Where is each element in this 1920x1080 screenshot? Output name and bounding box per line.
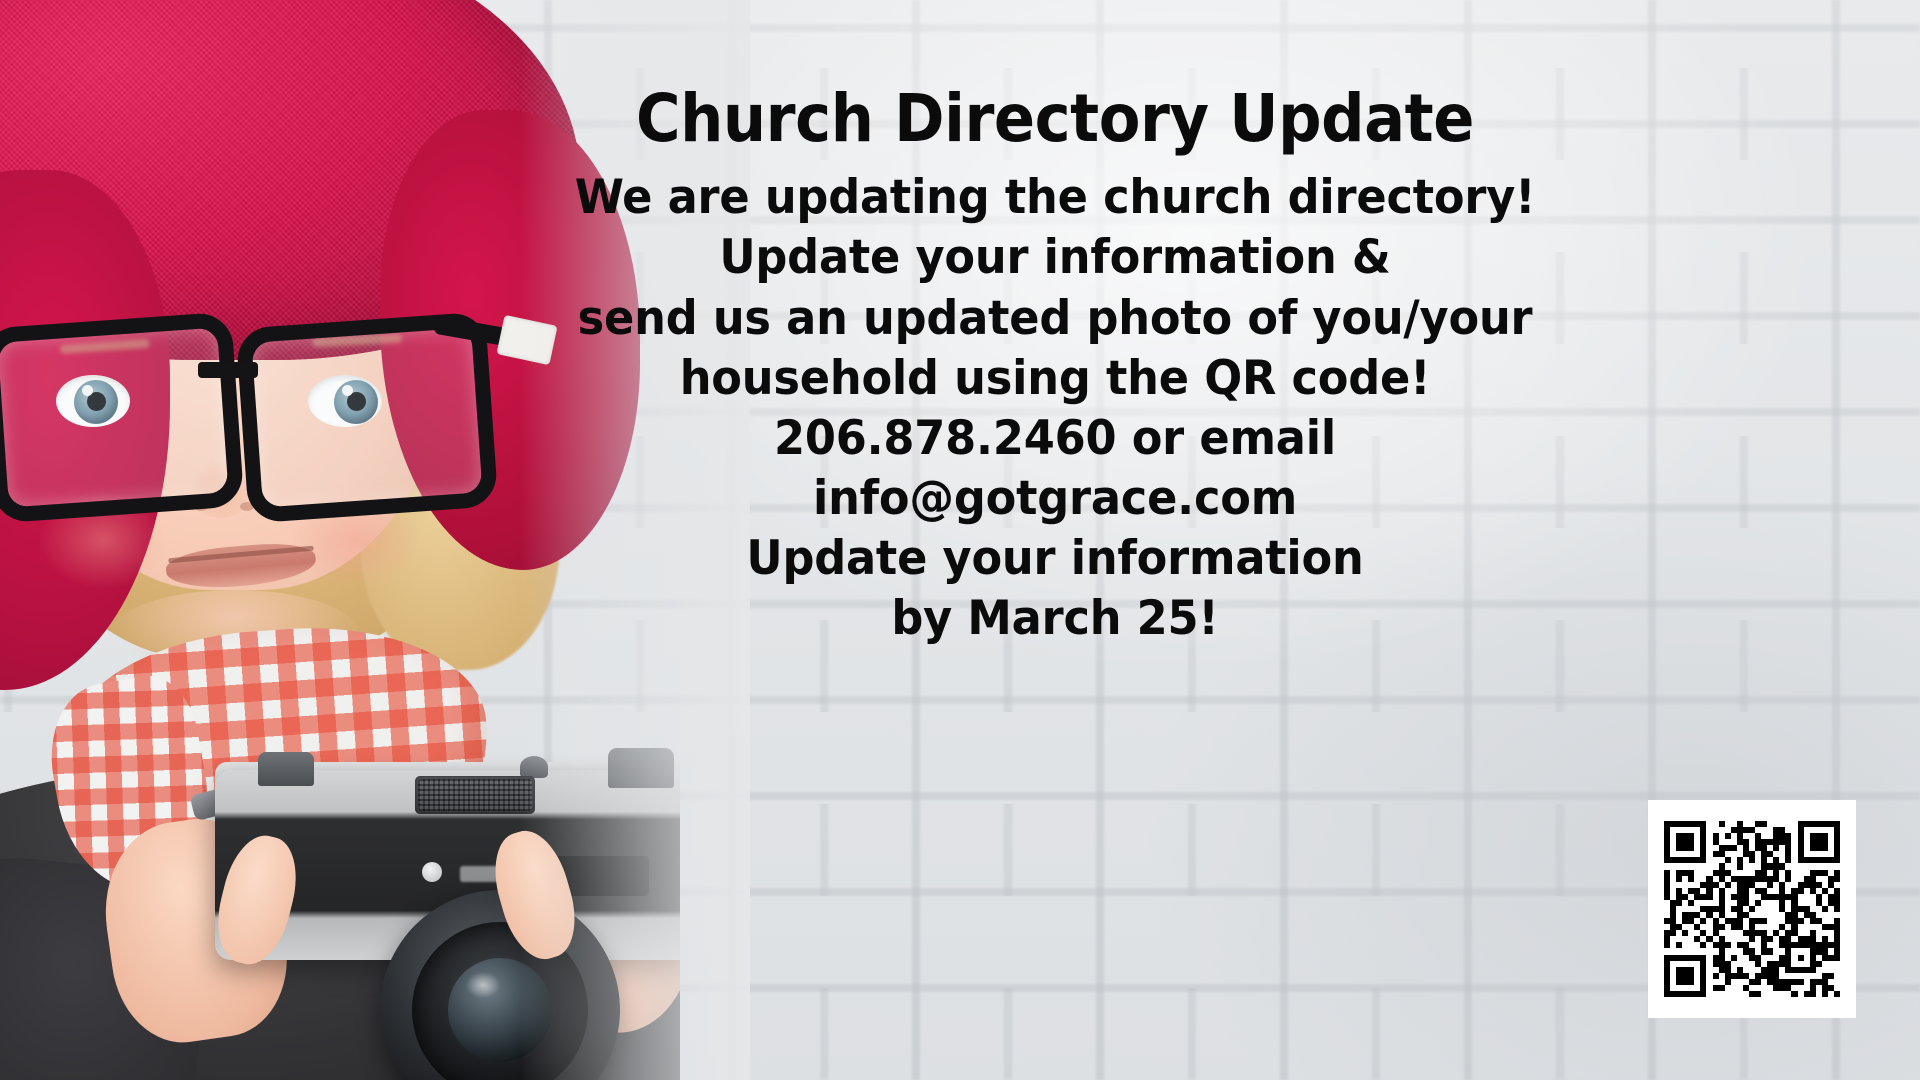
eyeglasses-lens-right <box>236 312 499 524</box>
qr-code-modules <box>1664 821 1840 997</box>
camera-self-timer <box>422 862 442 882</box>
body-line-1: We are updating the church directory! <box>571 168 1540 228</box>
deadline-line: by March 25! <box>571 589 1540 649</box>
qr-code[interactable] <box>1648 800 1856 1018</box>
camera-rewind-dial <box>258 752 314 786</box>
camera-shutter-button <box>520 756 548 778</box>
eyeglasses-bridge <box>198 362 258 378</box>
camera-lens-flare <box>466 972 500 998</box>
eyeglasses-lens-left <box>0 312 244 524</box>
camera-viewfinder-grid <box>418 779 532 811</box>
email-line: info@gotgrace.com <box>571 469 1540 529</box>
flyer-text-block: Church Directory Update We are updating … <box>545 85 1565 650</box>
camera-lens-glass <box>448 958 552 1062</box>
body-line-7: Update your information <box>571 529 1540 589</box>
page-title: Church Directory Update <box>586 85 1524 152</box>
phone-line: 206.878.2460 or email <box>571 409 1540 469</box>
flyer-canvas: Church Directory Update We are updating … <box>0 0 1920 1080</box>
camera-advance-dial <box>608 748 674 788</box>
body-line-2: Update your information & <box>571 228 1540 288</box>
body-line-3: send us an updated photo of you/your <box>571 289 1540 349</box>
body-line-4: household using the QR code! <box>571 349 1540 409</box>
